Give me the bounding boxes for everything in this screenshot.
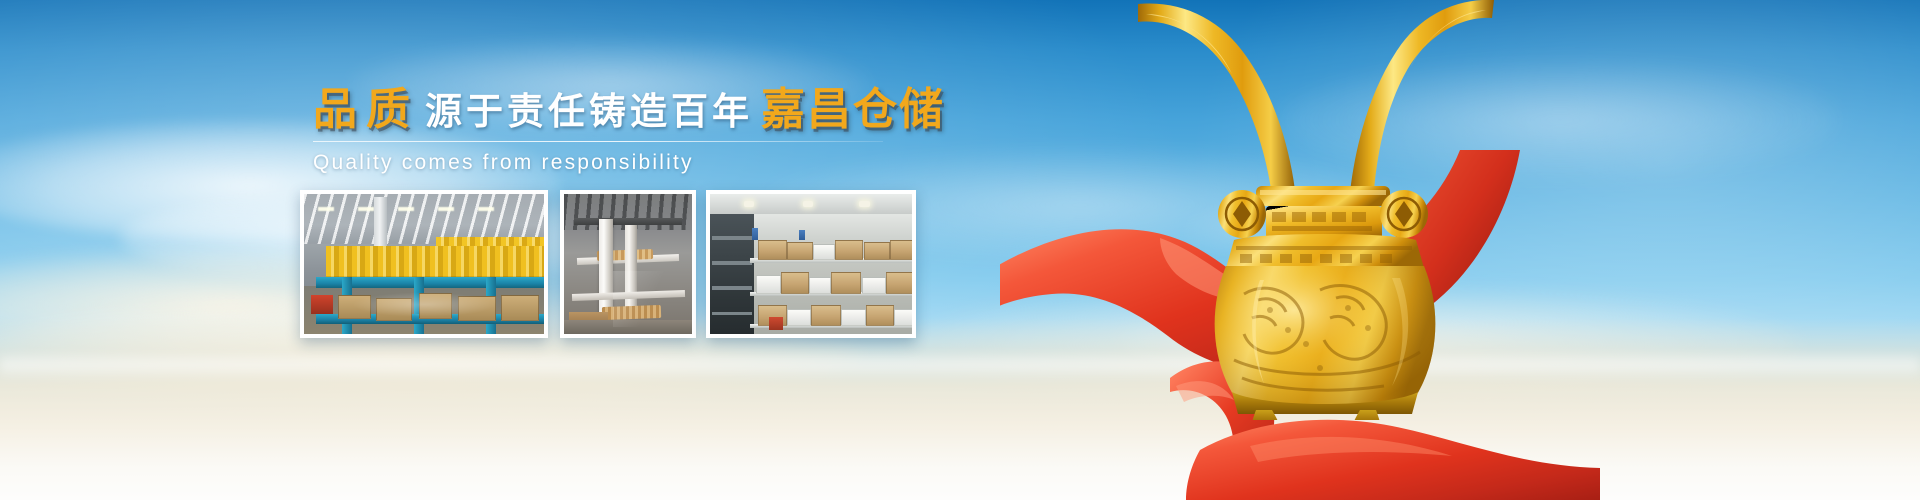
ding-handle-left xyxy=(1138,3,1296,198)
photo-cantilever-racking[interactable] xyxy=(560,190,696,338)
ding-rim xyxy=(1256,186,1390,206)
headline-gold-lead: 品质 xyxy=(313,84,419,135)
photo-carton-storage-shelving[interactable] xyxy=(706,190,916,338)
headline-divider xyxy=(313,141,883,142)
ribbon-base-sweep xyxy=(1186,420,1600,500)
ding-handle-right xyxy=(1350,0,1494,192)
banner-text-block: 品质源于责任铸造百年嘉昌仓储 Quality comes from respon… xyxy=(313,88,953,175)
ding-coin-medallion-right xyxy=(1380,190,1428,238)
photo-image xyxy=(304,194,544,334)
banner-headline: 品质源于责任铸造百年嘉昌仓储 xyxy=(313,88,953,132)
banner-subtitle: Quality comes from responsibility xyxy=(313,151,953,175)
photo-mezzanine-racking-platform[interactable] xyxy=(300,190,548,338)
photo-image xyxy=(710,194,912,334)
promo-banner: 品质源于责任铸造百年嘉昌仓储 Quality comes from respon… xyxy=(0,0,1920,500)
sky-background xyxy=(0,0,1920,500)
ding-shoulder-pattern xyxy=(1236,246,1412,263)
headline-white-middle: 源于责任铸造百年 xyxy=(425,90,753,133)
golden-ding-cauldron-icon xyxy=(1020,0,1580,420)
headline-gold-brand: 嘉昌仓储 xyxy=(761,84,945,135)
ding-coin-medallion-left xyxy=(1218,190,1266,238)
photo-image xyxy=(564,194,692,334)
